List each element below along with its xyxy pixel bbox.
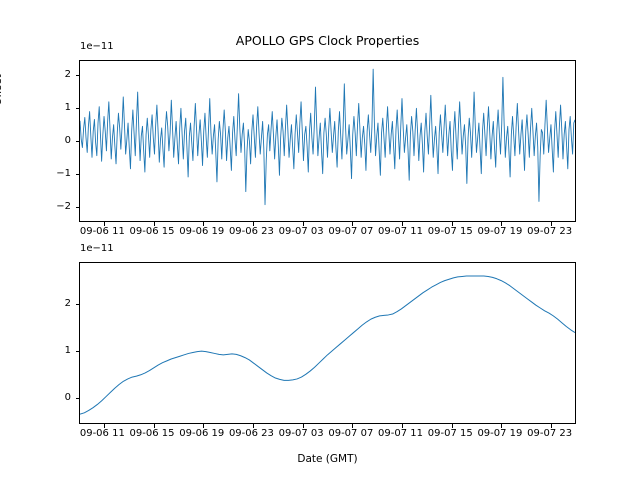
x-tick-label: 09-06 15 [130,227,175,237]
x-tick-label: 09-06 23 [229,227,274,237]
x-tick-label: 09-06 19 [179,227,224,237]
y-tick-mark [76,304,80,305]
y-tick-label: 0 [31,393,71,403]
x-tick-label: 09-07 07 [328,227,373,237]
figure-title: APOLLO GPS Clock Properties [79,33,576,48]
x-tick-label: 09-07 23 [527,429,572,439]
x-tick-label: 09-07 03 [279,227,324,237]
y-tick-mark [76,207,80,208]
x-tick-label: 09-07 19 [477,429,522,439]
x-tick-mark [154,424,155,428]
x-tick-mark [352,424,353,428]
x-tick-label: 09-07 15 [428,429,473,439]
y-tick-mark [76,174,80,175]
y-tick-mark [76,398,80,399]
x-tick-label: 09-07 07 [328,429,373,439]
y-tick-label: 0 [31,136,71,146]
x-tick-label: 09-07 15 [428,227,473,237]
y-tick-mark [76,108,80,109]
x-tick-label: 09-06 23 [229,429,274,439]
drift-y-exponent-label: 1e−11 [80,243,114,254]
x-tick-label: 09-06 19 [179,429,224,439]
x-tick-label: 09-07 23 [527,227,572,237]
x-tick-mark [104,222,105,226]
x-tick-mark [203,222,204,226]
matplotlib-figure: APOLLO GPS Clock Properties 1e−11 1e−11 … [0,0,640,480]
y-tick-label: 2 [31,70,71,80]
y-tick-label: −2 [31,202,71,212]
x-tick-mark [501,424,502,428]
x-tick-mark [352,222,353,226]
y-tick-mark [76,75,80,76]
drift-plot-area [79,262,576,424]
x-axis-label: Date (GMT) [79,453,576,465]
x-tick-label: 09-06 15 [130,429,175,439]
x-tick-mark [303,424,304,428]
x-tick-mark [551,424,552,428]
y-tick-label: 1 [31,346,71,356]
x-tick-mark [203,424,204,428]
x-tick-label: 09-07 11 [378,429,423,439]
x-tick-mark [551,222,552,226]
x-tick-mark [452,222,453,226]
x-tick-label: 09-07 19 [477,227,522,237]
x-tick-label: 09-06 11 [80,429,125,439]
x-tick-label: 09-07 11 [378,227,423,237]
x-tick-mark [104,424,105,428]
offset-y-axis-label: Offset [0,40,4,140]
x-tick-label: 09-07 03 [279,429,324,439]
y-tick-label: 2 [31,299,71,309]
y-tick-mark [76,351,80,352]
y-tick-mark [76,141,80,142]
x-tick-mark [154,222,155,226]
x-tick-mark [303,222,304,226]
y-tick-label: 1 [31,103,71,113]
x-tick-mark [452,424,453,428]
y-tick-label: −1 [31,169,71,179]
offset-y-exponent-label: 1e−11 [80,41,114,52]
x-tick-mark [501,222,502,226]
x-tick-mark [253,424,254,428]
x-tick-label: 09-06 11 [80,227,125,237]
x-tick-mark [402,222,403,226]
drift-series-line [80,263,575,423]
x-tick-mark [253,222,254,226]
offset-plot-area [79,60,576,222]
offset-series-line [80,61,575,221]
x-tick-mark [402,424,403,428]
